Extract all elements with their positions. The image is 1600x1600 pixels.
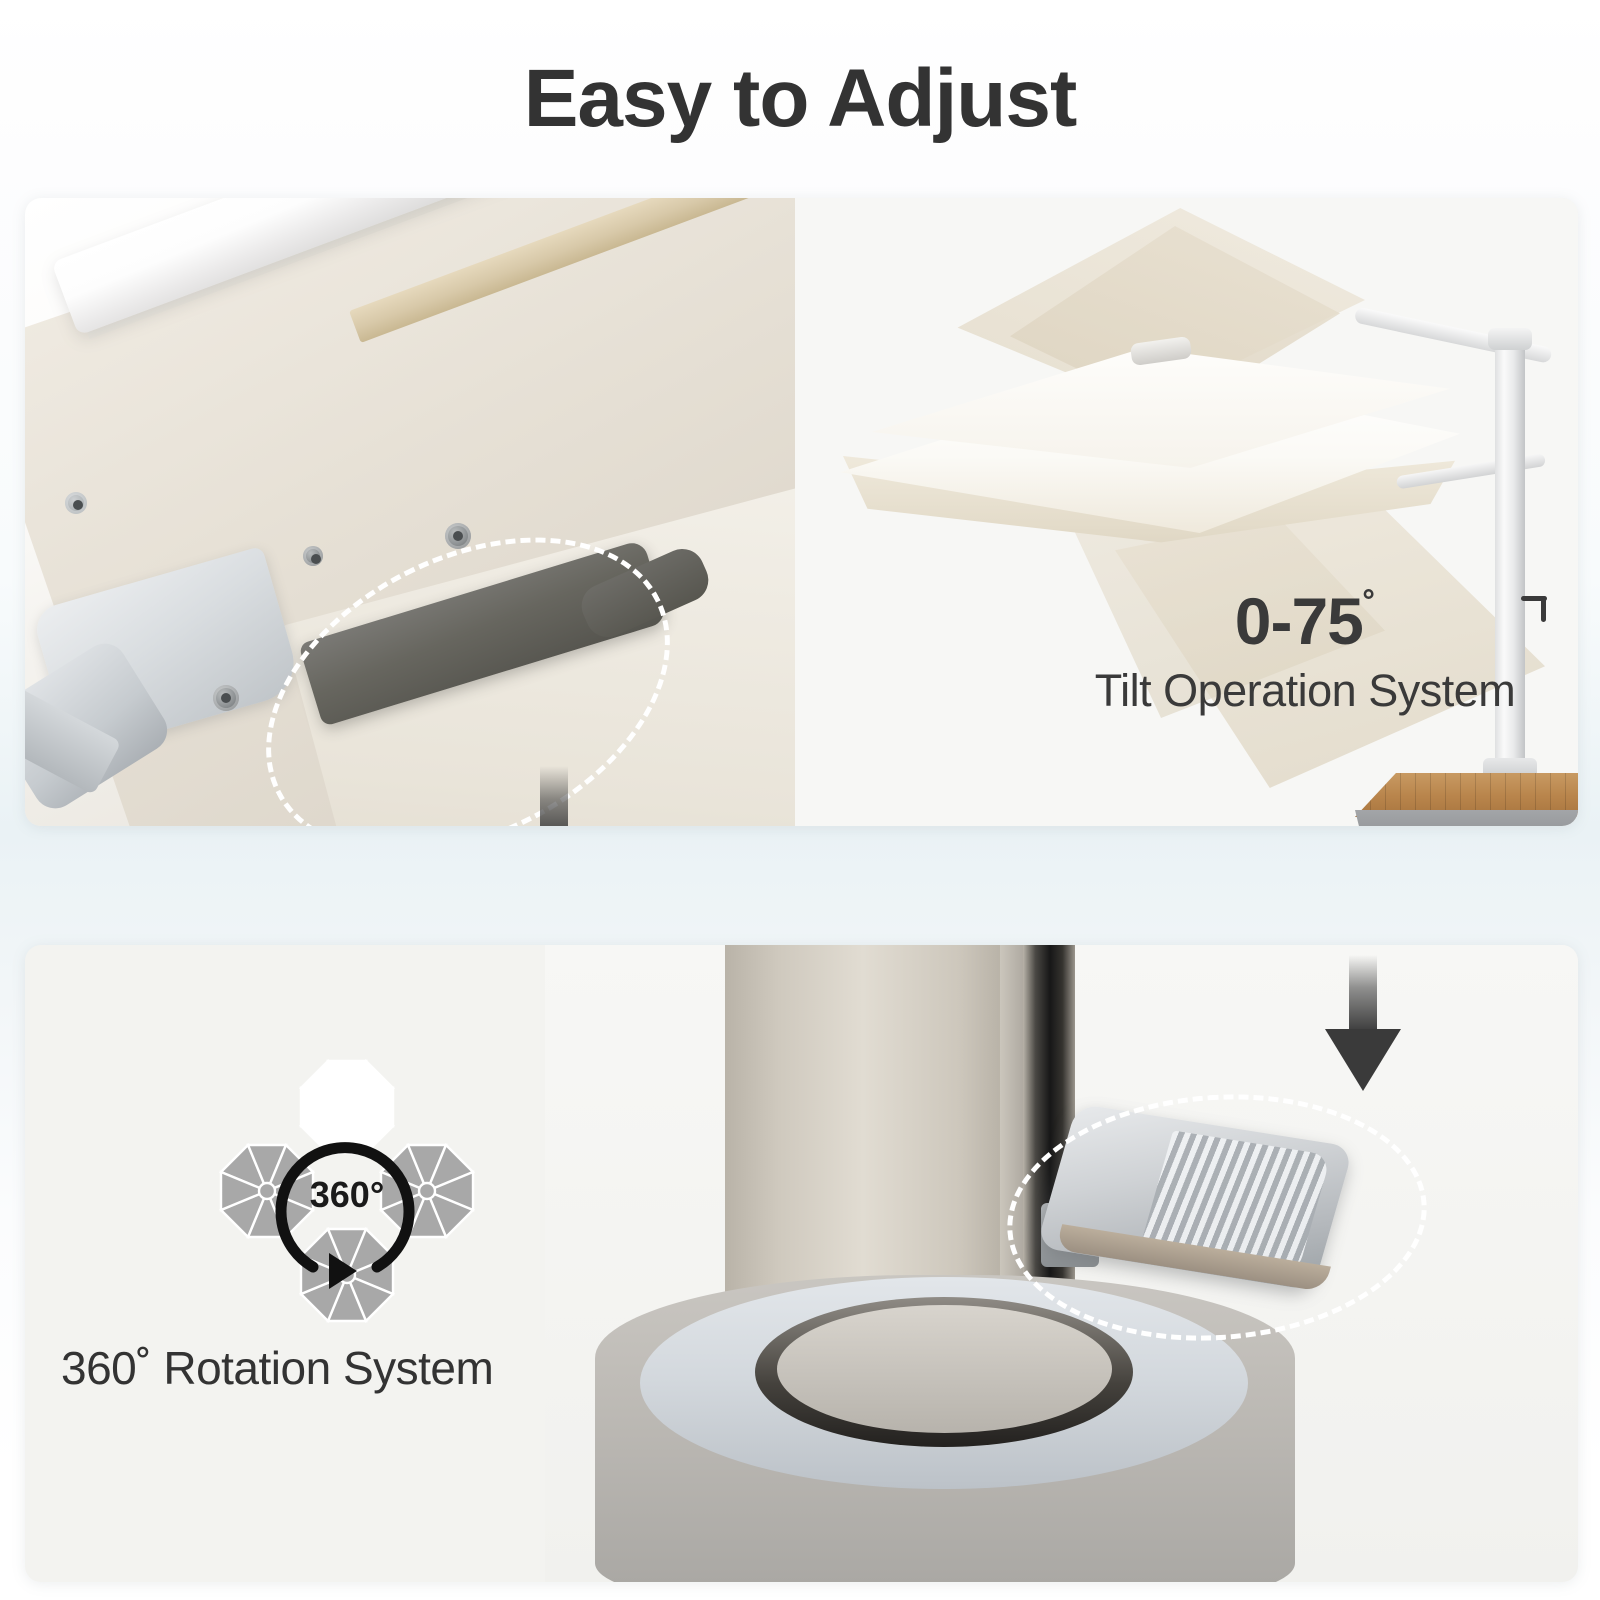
arrow-shaft: [540, 766, 568, 826]
screw-icon: [303, 546, 323, 566]
tilt-angle-number: 0-75: [1235, 584, 1363, 658]
mast-cap: [1488, 328, 1532, 350]
cantilever-umbrella-tilt-illustration: 0-75˚ Tilt Operation System: [795, 198, 1578, 826]
umbrella-position-left: [221, 1145, 313, 1237]
screw-icon: [445, 523, 471, 549]
screw-icon: [65, 492, 87, 514]
tilt-angle-value: 0-75˚: [1055, 588, 1555, 654]
rotation-degree-label: 360°: [310, 1174, 384, 1215]
page-title: Easy to Adjust: [0, 52, 1600, 146]
rotation-diagram-block: 360° 360˚ Rotation System: [25, 945, 545, 1582]
degree-symbol: ˚: [1363, 586, 1375, 630]
arrow-head: [1325, 1029, 1401, 1091]
umbrella-position-right: [381, 1145, 473, 1237]
downward-press-arrow-icon: [514, 766, 594, 826]
base-pole-collar: [777, 1305, 1112, 1433]
downward-press-arrow-icon: [1323, 955, 1403, 1105]
screw-icon: [213, 685, 239, 711]
foot-pedal-closeup-photo: [545, 945, 1578, 1582]
tilt-system-label: Tilt Operation System: [1055, 668, 1555, 713]
tilt-caption-block: 0-75˚ Tilt Operation System: [1055, 588, 1555, 713]
tilt-operation-panel: 0-75˚ Tilt Operation System: [25, 198, 1578, 826]
umbrella-mast: [1495, 336, 1525, 786]
base-body: [1355, 810, 1578, 826]
umbrella-position-top: [301, 1061, 393, 1153]
tilt-mechanism-closeup-photo: [25, 198, 795, 826]
rotation-system-panel: 360° 360˚ Rotation System: [25, 945, 1578, 1582]
arrow-shaft: [1349, 955, 1377, 1033]
360-rotation-diagram: 360°: [201, 1041, 493, 1341]
rotation-system-label: 360˚ Rotation System: [61, 1343, 531, 1394]
